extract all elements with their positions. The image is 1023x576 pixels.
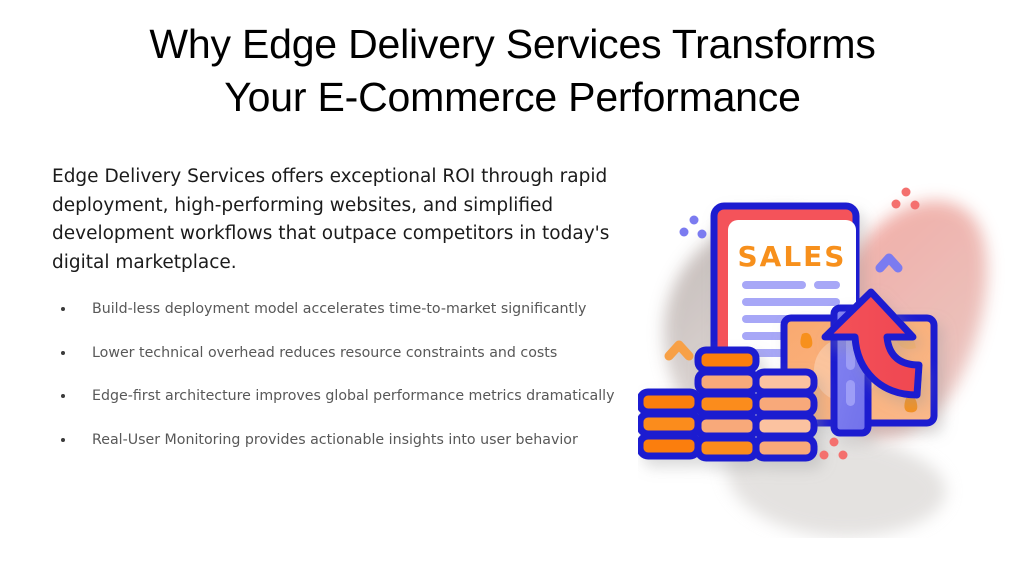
list-item: Edge-first architecture improves global … <box>52 386 652 408</box>
red-dots-decoration <box>892 188 920 210</box>
benefits-list: Build-less deployment model accelerates … <box>52 299 652 451</box>
list-item-label: Real-User Monitoring provides actionable… <box>92 432 578 448</box>
list-item: Lower technical overhead reduces resourc… <box>52 343 652 365</box>
list-item-label: Edge-first architecture improves global … <box>92 388 614 404</box>
list-item: Build-less deployment model accelerates … <box>52 299 652 321</box>
bullet-dot-icon <box>61 438 65 442</box>
list-item-label: Lower technical overhead reduces resourc… <box>92 345 557 361</box>
list-item-label: Build-less deployment model accelerates … <box>92 301 586 317</box>
intro-paragraph: Edge Delivery Services offers exceptiona… <box>52 163 642 277</box>
sales-document-label: SALES <box>738 240 847 273</box>
content-column: Edge Delivery Services offers exceptiona… <box>52 163 652 451</box>
list-item: Real-User Monitoring provides actionable… <box>52 430 652 452</box>
bullet-dot-icon <box>61 307 65 311</box>
sales-growth-illustration: SALES <box>638 148 1023 538</box>
slide-root: Why Edge Delivery Services Transforms Yo… <box>0 0 1023 576</box>
page-title: Why Edge Delivery Services Transforms Yo… <box>50 18 975 124</box>
bullet-dot-icon <box>61 394 65 398</box>
bullet-dot-icon <box>61 351 65 355</box>
purple-dots-decoration <box>680 216 707 239</box>
